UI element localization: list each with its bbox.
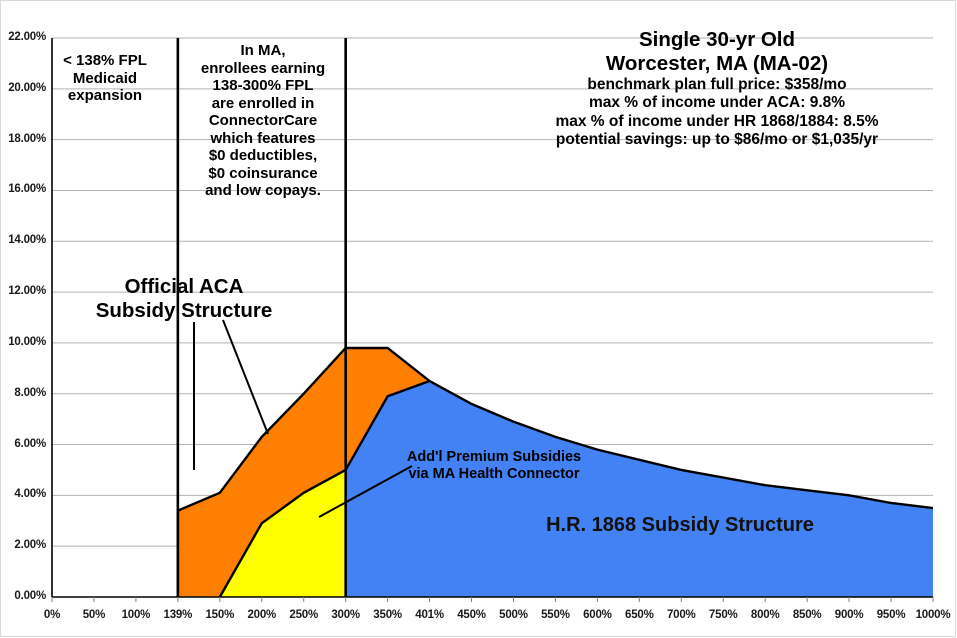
series-area-hr1868 (346, 381, 933, 597)
annotation-line: and low copays. (183, 182, 343, 200)
leader-line-aca-right (223, 320, 268, 434)
annotation-line: In MA, (183, 42, 343, 60)
annotation-line: ConnectorCare (183, 112, 343, 130)
annotation-medicaid-expansion: < 138% FPLMedicaidexpansion (46, 52, 164, 105)
y-axis-tick-label: 4.00% (0, 488, 46, 500)
y-axis-tick-label: 12.00% (0, 285, 46, 297)
annotation-line: are enrolled in (183, 95, 343, 113)
y-axis-tick-label: 20.00% (0, 82, 46, 94)
annotation-line: < 138% FPL (46, 52, 164, 70)
title-line-3: benchmark plan full price: $358/mo (482, 76, 952, 95)
annotation-line: $0 deductibles, (183, 147, 343, 165)
y-axis-tick-label: 22.00% (0, 31, 46, 43)
title-line-6: potential savings: up to $86/mo or $1,03… (482, 131, 952, 150)
y-axis-tick-label: 10.00% (0, 336, 46, 348)
annotation-line: which features (183, 130, 343, 148)
annotation-line: Official ACA (74, 275, 294, 299)
title-line-1: Single 30-yr Old (482, 28, 952, 52)
annotation-line: H.R. 1868 Subsidy Structure (500, 514, 860, 537)
annotation-line: Add'l Premium Subsidies (378, 449, 610, 466)
chart-root: 0.00%2.00%4.00%6.00%8.00%10.00%12.00%14.… (0, 0, 957, 638)
y-axis-tick-label: 16.00% (0, 183, 46, 195)
chart-title-block: Single 30-yr Old Worcester, MA (MA-02) b… (482, 28, 952, 150)
annotation-additional-premium-subsidies: Add'l Premium Subsidiesvia MA Health Con… (378, 449, 610, 484)
title-line-5: max % of income under HR 1868/1884: 8.5% (482, 113, 952, 132)
y-axis-tick-label: 18.00% (0, 133, 46, 145)
annotation-line: expansion (46, 87, 164, 105)
y-axis-tick-label: 2.00% (0, 539, 46, 551)
annotation-line: Medicaid (46, 70, 164, 88)
annotation-line: enrollees earning (183, 60, 343, 78)
title-line-4: max % of income under ACA: 9.8% (482, 94, 952, 113)
title-line-2: Worcester, MA (MA-02) (482, 52, 952, 76)
y-axis-tick-label: 8.00% (0, 387, 46, 399)
annotation-line: 138-300% FPL (183, 77, 343, 95)
x-axis-tick-label: 1000% (903, 609, 957, 621)
y-axis-tick-label: 14.00% (0, 234, 46, 246)
annotation-hr-1868-subsidy-structure: H.R. 1868 Subsidy Structure (500, 514, 860, 537)
annotation-line: $0 coinsurance (183, 165, 343, 183)
annotation-line: Subsidy Structure (74, 299, 294, 323)
y-axis-tick-label: 0.00% (0, 590, 46, 602)
annotation-connectorcare: In MA,enrollees earning138-300% FPLare e… (183, 42, 343, 200)
annotation-official-aca-subsidy-structure: Official ACASubsidy Structure (74, 275, 294, 323)
annotation-line: via MA Health Connector (378, 466, 610, 483)
y-axis-tick-label: 6.00% (0, 438, 46, 450)
